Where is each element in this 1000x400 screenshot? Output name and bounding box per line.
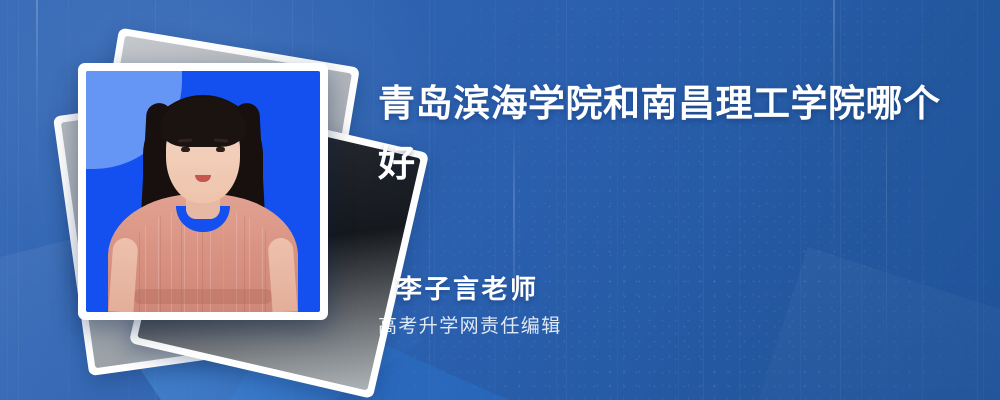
author-name: 李子言老师 [378, 274, 798, 307]
portrait-eye-left [181, 147, 190, 152]
background-vertical-line [36, 0, 38, 230]
author-role: 高考升学网责任编辑 [378, 315, 798, 339]
author-portrait-photo [86, 71, 320, 312]
author-byline: 李子言老师 高考升学网责任编辑 [378, 274, 798, 338]
article-title: 青岛滨海学院和南昌理工学院哪个好 [378, 74, 948, 194]
photo-card-stack [42, 30, 362, 370]
portrait-illustration [86, 71, 320, 312]
photo-card-front [78, 63, 328, 320]
article-cover-banner: 青岛滨海学院和南昌理工学院哪个好 李子言老师 高考升学网责任编辑 [0, 0, 1000, 400]
portrait-arm-left [108, 237, 138, 312]
portrait-fringe [160, 97, 246, 147]
portrait-dress-waist [133, 289, 273, 304]
banner-content: 青岛滨海学院和南昌理工学院哪个好 李子言老师 高考升学网责任编辑 [378, 0, 968, 400]
portrait-arm-right [267, 237, 297, 312]
portrait-eye-right [216, 147, 225, 152]
